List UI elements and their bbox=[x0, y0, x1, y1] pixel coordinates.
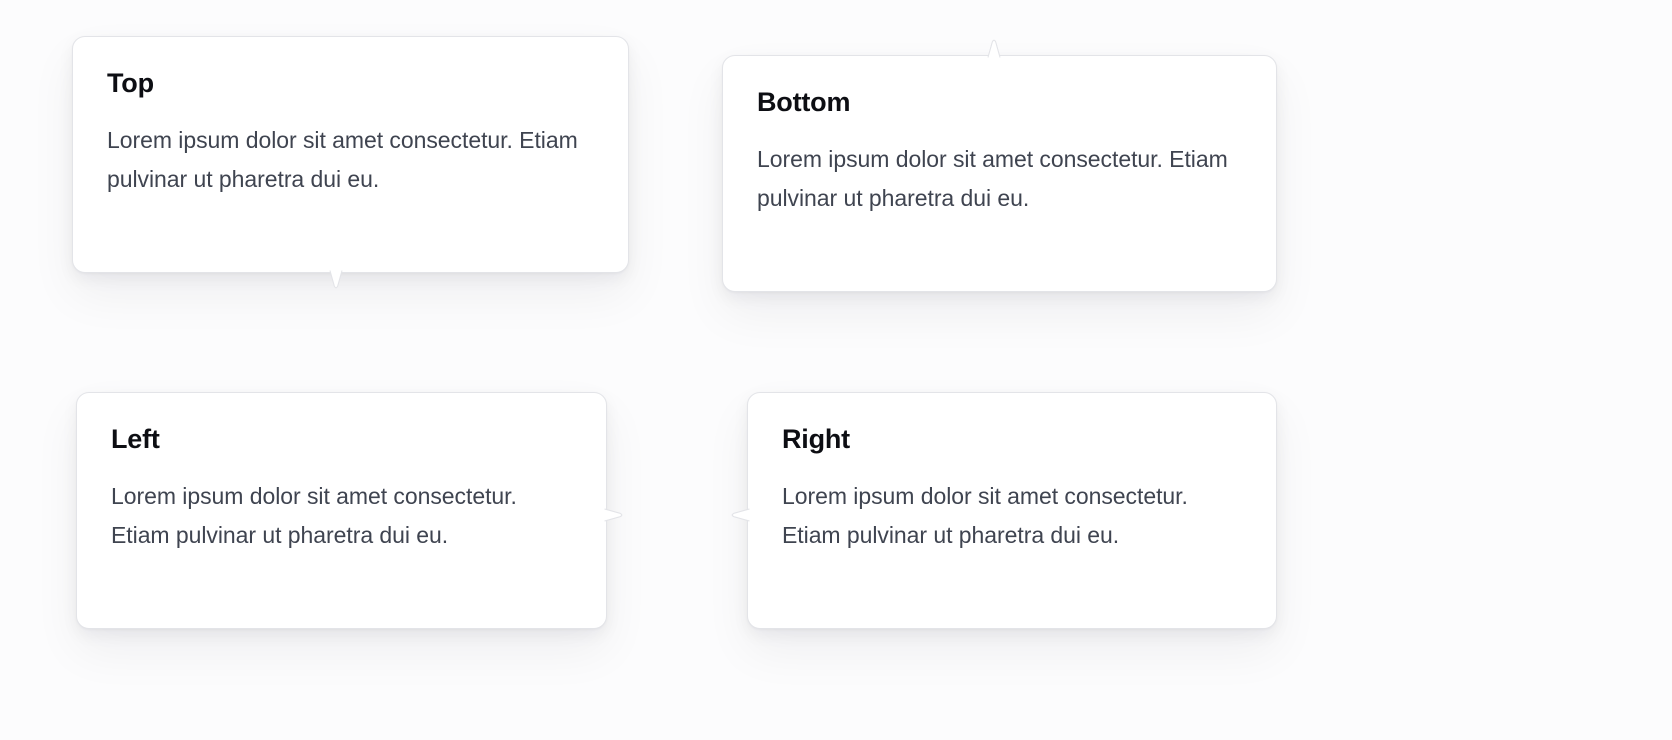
triangle-up-icon bbox=[972, 37, 1016, 58]
triangle-right-icon bbox=[604, 493, 625, 537]
triangle-down-icon bbox=[314, 270, 358, 291]
popover-bottom[interactable]: Bottom Lorem ipsum dolor sit amet consec… bbox=[722, 55, 1277, 292]
popover-top[interactable]: Top Lorem ipsum dolor sit amet consectet… bbox=[72, 36, 629, 273]
popover-title: Bottom bbox=[757, 86, 1242, 118]
popover-title: Top bbox=[107, 67, 594, 99]
popover-body: Lorem ipsum dolor sit amet consectetur. … bbox=[782, 477, 1242, 553]
popover-left[interactable]: Left Lorem ipsum dolor sit amet consecte… bbox=[76, 392, 607, 629]
popover-body: Lorem ipsum dolor sit amet consectetur. … bbox=[107, 121, 594, 197]
popover-body: Lorem ipsum dolor sit amet consectetur. … bbox=[111, 477, 572, 553]
popover-right[interactable]: Right Lorem ipsum dolor sit amet consect… bbox=[747, 392, 1277, 629]
tooltip-showcase-canvas: Top Lorem ipsum dolor sit amet consectet… bbox=[0, 0, 1672, 740]
popover-body: Lorem ipsum dolor sit amet consectetur. … bbox=[757, 140, 1242, 216]
popover-title: Left bbox=[111, 423, 572, 455]
popover-title: Right bbox=[782, 423, 1242, 455]
triangle-left-icon bbox=[729, 493, 750, 537]
